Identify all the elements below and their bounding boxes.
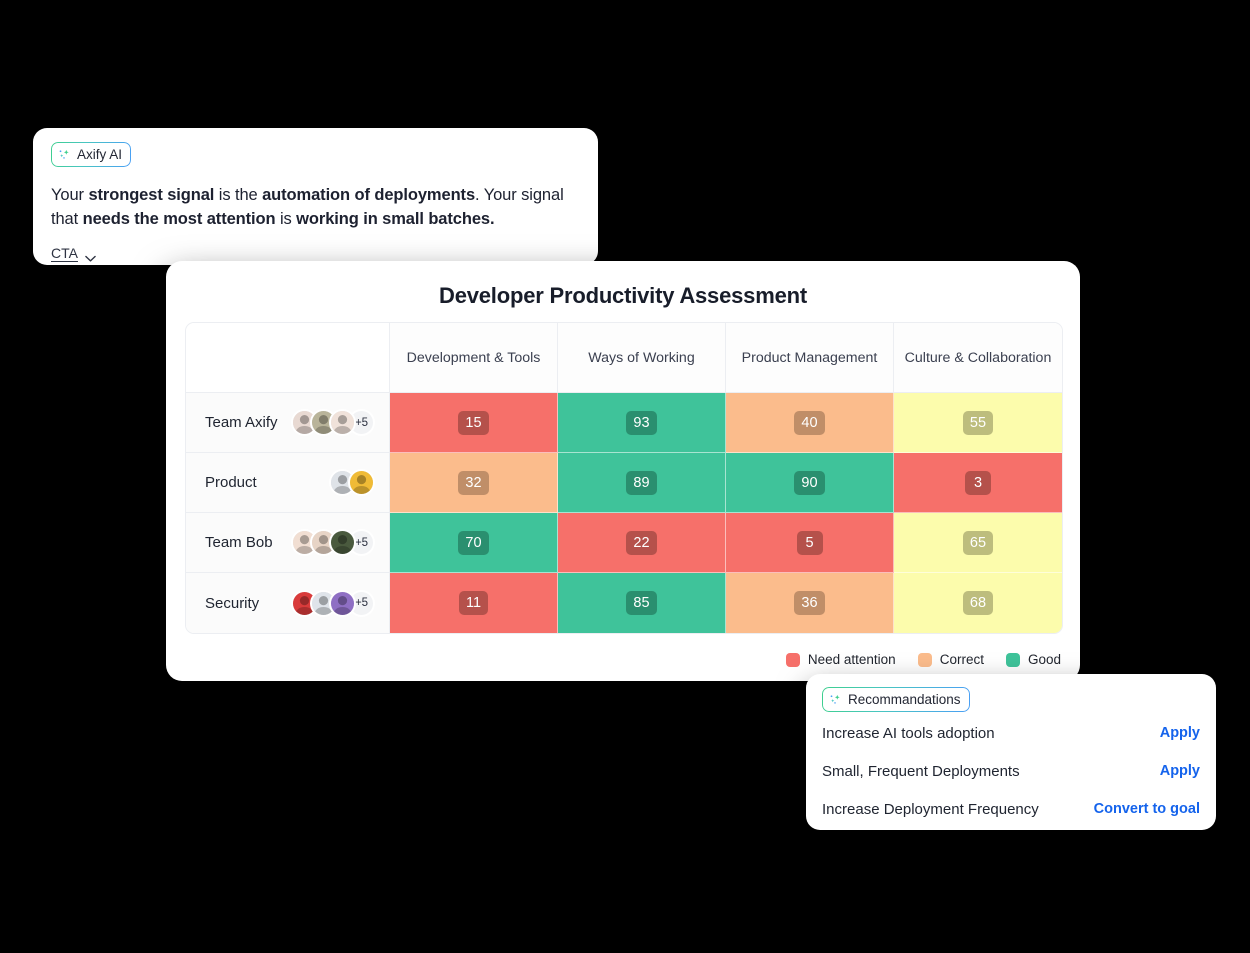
score-cell[interactable]: 40 — [726, 393, 894, 453]
score-badge: 3 — [965, 471, 991, 495]
sparkle-icon — [829, 693, 842, 706]
team-name-cell[interactable]: Security+5 — [186, 573, 390, 633]
ai-insight-text: Your strongest signal is the automation … — [51, 183, 580, 231]
column-header-culture-collaboration: Culture & Collaboration — [894, 323, 1062, 393]
score-badge: 70 — [458, 531, 488, 555]
score-badge: 11 — [459, 591, 488, 615]
score-badge: 40 — [794, 411, 824, 435]
legend: Need attentionCorrectGood — [786, 652, 1061, 667]
cta-label: CTA — [51, 245, 78, 261]
avatar-group[interactable]: +5 — [291, 409, 375, 436]
score-cell[interactable]: 70 — [390, 513, 558, 573]
assessment-card: Developer Productivity Assessment Develo… — [166, 261, 1080, 681]
team-name-label: Security — [205, 595, 259, 612]
legend-label: Correct — [940, 652, 984, 667]
team-name-cell[interactable]: Product — [186, 453, 390, 513]
team-name-label: Product — [205, 474, 257, 491]
score-badge: 90 — [794, 471, 824, 495]
score-cell[interactable]: 3 — [894, 453, 1062, 513]
score-badge: 15 — [458, 411, 488, 435]
table-row: Team Bob+57022565 — [186, 513, 1062, 573]
score-cell[interactable]: 93 — [558, 393, 726, 453]
avatar — [329, 529, 356, 556]
score-badge: 85 — [626, 591, 656, 615]
recommendation-label: Increase AI tools adoption — [822, 725, 995, 742]
score-cell[interactable]: 22 — [558, 513, 726, 573]
legend-item: Good — [1006, 652, 1061, 667]
table-row: Security+511853668 — [186, 573, 1062, 633]
table-row: Team Axify+515934055 — [186, 393, 1062, 453]
score-cell[interactable]: 15 — [390, 393, 558, 453]
recommendation-label: Increase Deployment Frequency — [822, 801, 1039, 818]
legend-item: Correct — [918, 652, 984, 667]
team-name-cell[interactable]: Team Axify+5 — [186, 393, 390, 453]
cta-link[interactable]: CTA — [51, 245, 96, 261]
score-badge: 22 — [626, 531, 656, 555]
score-cell[interactable]: 85 — [558, 573, 726, 633]
legend-swatch — [1006, 653, 1020, 667]
screen-root: Axify AI Your strongest signal is the au… — [0, 0, 1250, 953]
axify-ai-badge: Axify AI — [51, 142, 131, 167]
table-header-row: Development & Tools Ways of Working Prod… — [186, 323, 1062, 393]
table-body: Team Axify+515934055Product3289903Team B… — [186, 393, 1062, 633]
team-name-label: Team Axify — [205, 414, 278, 431]
legend-item: Need attention — [786, 652, 896, 667]
avatar — [329, 409, 356, 436]
legend-label: Good — [1028, 652, 1061, 667]
table-row: Product3289903 — [186, 453, 1062, 513]
score-cell[interactable]: 65 — [894, 513, 1062, 573]
avatar — [329, 590, 356, 617]
score-badge: 89 — [626, 471, 656, 495]
axify-ai-card: Axify AI Your strongest signal is the au… — [33, 128, 598, 265]
score-badge: 65 — [963, 531, 993, 555]
recommendations-badge: Recommandations — [822, 687, 970, 712]
legend-swatch — [918, 653, 932, 667]
assessment-table: Development & Tools Ways of Working Prod… — [185, 322, 1063, 634]
recommendations-badge-label: Recommandations — [848, 692, 961, 707]
team-name-cell[interactable]: Team Bob+5 — [186, 513, 390, 573]
score-badge: 68 — [963, 591, 993, 615]
score-cell[interactable]: 90 — [726, 453, 894, 513]
legend-label: Need attention — [808, 652, 896, 667]
avatar-group[interactable] — [329, 469, 375, 496]
team-name-label: Team Bob — [205, 534, 273, 551]
score-cell[interactable]: 36 — [726, 573, 894, 633]
score-cell[interactable]: 5 — [726, 513, 894, 573]
score-cell[interactable]: 68 — [894, 573, 1062, 633]
page-title: Developer Productivity Assessment — [166, 261, 1080, 309]
sparkle-icon — [58, 148, 71, 161]
avatar — [348, 469, 375, 496]
avatar-group[interactable]: +5 — [291, 590, 375, 617]
recommendations-card: Recommandations Increase AI tools adopti… — [806, 674, 1216, 830]
chevron-down-icon — [85, 250, 96, 257]
score-cell[interactable]: 55 — [894, 393, 1062, 453]
avatar-group[interactable]: +5 — [291, 529, 375, 556]
recommendation-row: Small, Frequent DeploymentsApply — [822, 754, 1200, 788]
column-header-product-management: Product Management — [726, 323, 894, 393]
recommendation-action-button[interactable]: Apply — [1160, 725, 1200, 741]
recommendation-action-button[interactable]: Apply — [1160, 763, 1200, 779]
score-cell[interactable]: 11 — [390, 573, 558, 633]
axify-ai-badge-label: Axify AI — [77, 147, 122, 162]
recommendation-row: Increase Deployment FrequencyConvert to … — [822, 792, 1200, 826]
recommendation-list: Increase AI tools adoptionApplySmall, Fr… — [822, 716, 1200, 826]
recommendation-row: Increase AI tools adoptionApply — [822, 716, 1200, 750]
score-badge: 93 — [626, 411, 656, 435]
column-header-ways-of-working: Ways of Working — [558, 323, 726, 393]
header-blank — [186, 323, 390, 393]
recommendation-action-button[interactable]: Convert to goal — [1094, 801, 1200, 817]
legend-swatch — [786, 653, 800, 667]
score-cell[interactable]: 32 — [390, 453, 558, 513]
column-header-development-tools: Development & Tools — [390, 323, 558, 393]
score-cell[interactable]: 89 — [558, 453, 726, 513]
score-badge: 5 — [797, 531, 823, 555]
score-badge: 32 — [458, 471, 488, 495]
recommendation-label: Small, Frequent Deployments — [822, 763, 1020, 780]
score-badge: 36 — [794, 591, 824, 615]
score-badge: 55 — [963, 411, 993, 435]
